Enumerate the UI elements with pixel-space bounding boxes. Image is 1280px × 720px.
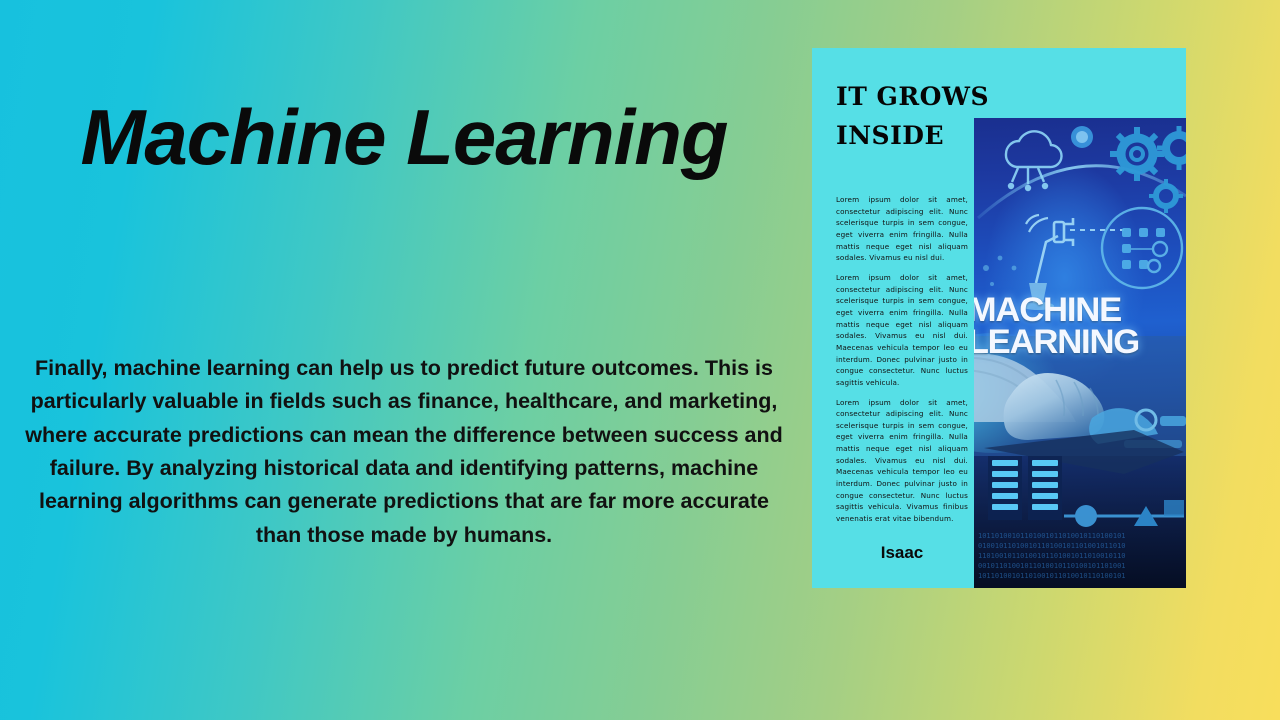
card-body-text: Lorem ipsum dolor sit amet, consectetur … bbox=[836, 194, 968, 533]
card-paragraph: Lorem ipsum dolor sit amet, consectetur … bbox=[836, 272, 968, 389]
typing-hands-icon: 10110100101101001011010010110100101 0100… bbox=[974, 333, 1186, 588]
cover-title-line-1: MACHINE bbox=[974, 295, 1186, 327]
card-paragraph: Lorem ipsum dolor sit amet, consectetur … bbox=[836, 397, 968, 525]
svg-text:101101001011010010110100101101: 10110100101101001011010010110100101 bbox=[978, 532, 1126, 540]
circuit-node-icon bbox=[1102, 208, 1182, 288]
book-card: IT GROWS INSIDE Lorem ipsum dolor sit am… bbox=[812, 48, 1186, 588]
cover-image: 10110100101101001011010010110100101 0100… bbox=[974, 118, 1186, 588]
slide-canvas: Machine Learning Finally, machine learni… bbox=[0, 0, 1280, 720]
svg-text:101101001011010010110100101101: 10110100101101001011010010110100101 bbox=[978, 572, 1126, 580]
card-author-name: Isaac bbox=[836, 543, 968, 563]
circuit-node-icon bbox=[983, 256, 1016, 286]
binary-code-icon: 10110100101101001011010010110100101 0100… bbox=[978, 532, 1126, 580]
cover-title-line-2: LEARNING bbox=[974, 327, 1186, 359]
svg-text:010010110100101101001011010010: 01001011010010110100101101001011010 bbox=[978, 542, 1126, 550]
body-paragraph: Finally, machine learning can help us to… bbox=[22, 352, 786, 552]
card-paragraph: Lorem ipsum dolor sit amet, consectetur … bbox=[836, 194, 968, 264]
card-heading: IT GROWS INSIDE bbox=[836, 78, 1036, 156]
left-content-column: Machine Learning Finally, machine learni… bbox=[0, 0, 808, 720]
cover-title: MACHINE LEARNING bbox=[974, 295, 1186, 358]
gear-icon bbox=[1110, 126, 1186, 213]
svg-text:110100101101001011010010110100: 11010010110100101101001011010010110 bbox=[978, 552, 1126, 560]
page-title: Machine Learning bbox=[40, 95, 768, 179]
svg-text:001011010010110100101101001011: 00101101001011010010110100101101001 bbox=[978, 562, 1126, 570]
